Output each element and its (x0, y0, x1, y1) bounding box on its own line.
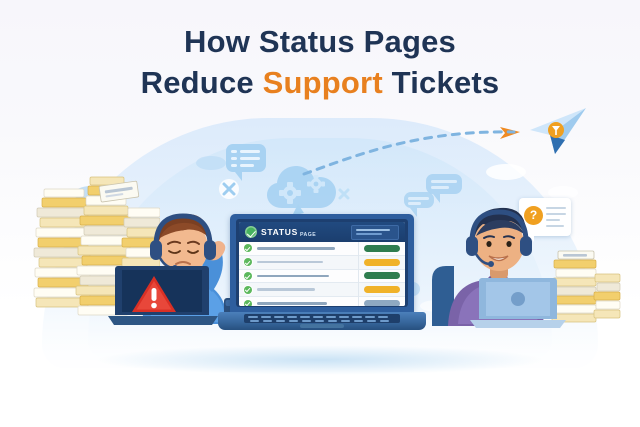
cloud-icon (196, 156, 226, 170)
check-circle-icon (244, 300, 252, 306)
status-row-list (239, 242, 405, 306)
laptop-lid: STATUS PAGE (230, 214, 414, 314)
status-badge (364, 245, 400, 252)
table-row[interactable] (239, 283, 405, 297)
laptop-base (218, 312, 426, 330)
check-circle-icon (244, 258, 252, 266)
title-line-1: How Status Pages (0, 22, 640, 63)
chat-bubble-list-icon (226, 144, 266, 172)
status-badge (364, 286, 400, 293)
right-agent-laptop (470, 276, 566, 330)
check-circle-icon (244, 286, 252, 294)
laptop-keyboard[interactable] (244, 314, 400, 323)
chat-bubble-icon (404, 192, 434, 208)
status-page-title: STATUS (261, 227, 298, 237)
table-row[interactable] (239, 270, 405, 284)
left-agent-laptop (108, 262, 218, 328)
column-divider (358, 242, 359, 306)
check-circle-icon (244, 244, 252, 252)
status-page-header: STATUS PAGE (239, 222, 405, 242)
status-badge (364, 259, 400, 266)
desk-reflection (95, 345, 545, 375)
status-badge (364, 300, 400, 306)
poster-canvas: ? (0, 0, 640, 427)
title-line-2: Reduce Support Tickets (0, 63, 640, 104)
title-line-2-plain-a: Reduce (141, 65, 263, 100)
title-line-2-plain-b: Tickets (383, 65, 500, 100)
main-laptop: STATUS PAGE (218, 214, 426, 336)
table-row[interactable] (239, 242, 405, 256)
laptop-trackpad[interactable] (300, 324, 344, 328)
service-name-placeholder (257, 261, 323, 264)
status-page-header-badge[interactable] (351, 225, 399, 240)
check-circle-icon (244, 272, 252, 280)
title-line-2-accent: Support (263, 65, 383, 100)
dashed-arc-path (300, 118, 560, 180)
service-name-placeholder (257, 302, 327, 305)
service-name-placeholder (257, 288, 315, 291)
table-row[interactable] (239, 256, 405, 270)
check-circle-icon (245, 226, 257, 238)
service-name-placeholder (257, 275, 329, 278)
status-page-subtitle: PAGE (300, 232, 316, 238)
poster-title: How Status Pages Reduce Support Tickets (0, 22, 640, 104)
table-row[interactable] (239, 297, 405, 306)
status-page-screen[interactable]: STATUS PAGE (239, 222, 405, 306)
service-name-placeholder (257, 247, 335, 250)
status-badge (364, 272, 400, 279)
